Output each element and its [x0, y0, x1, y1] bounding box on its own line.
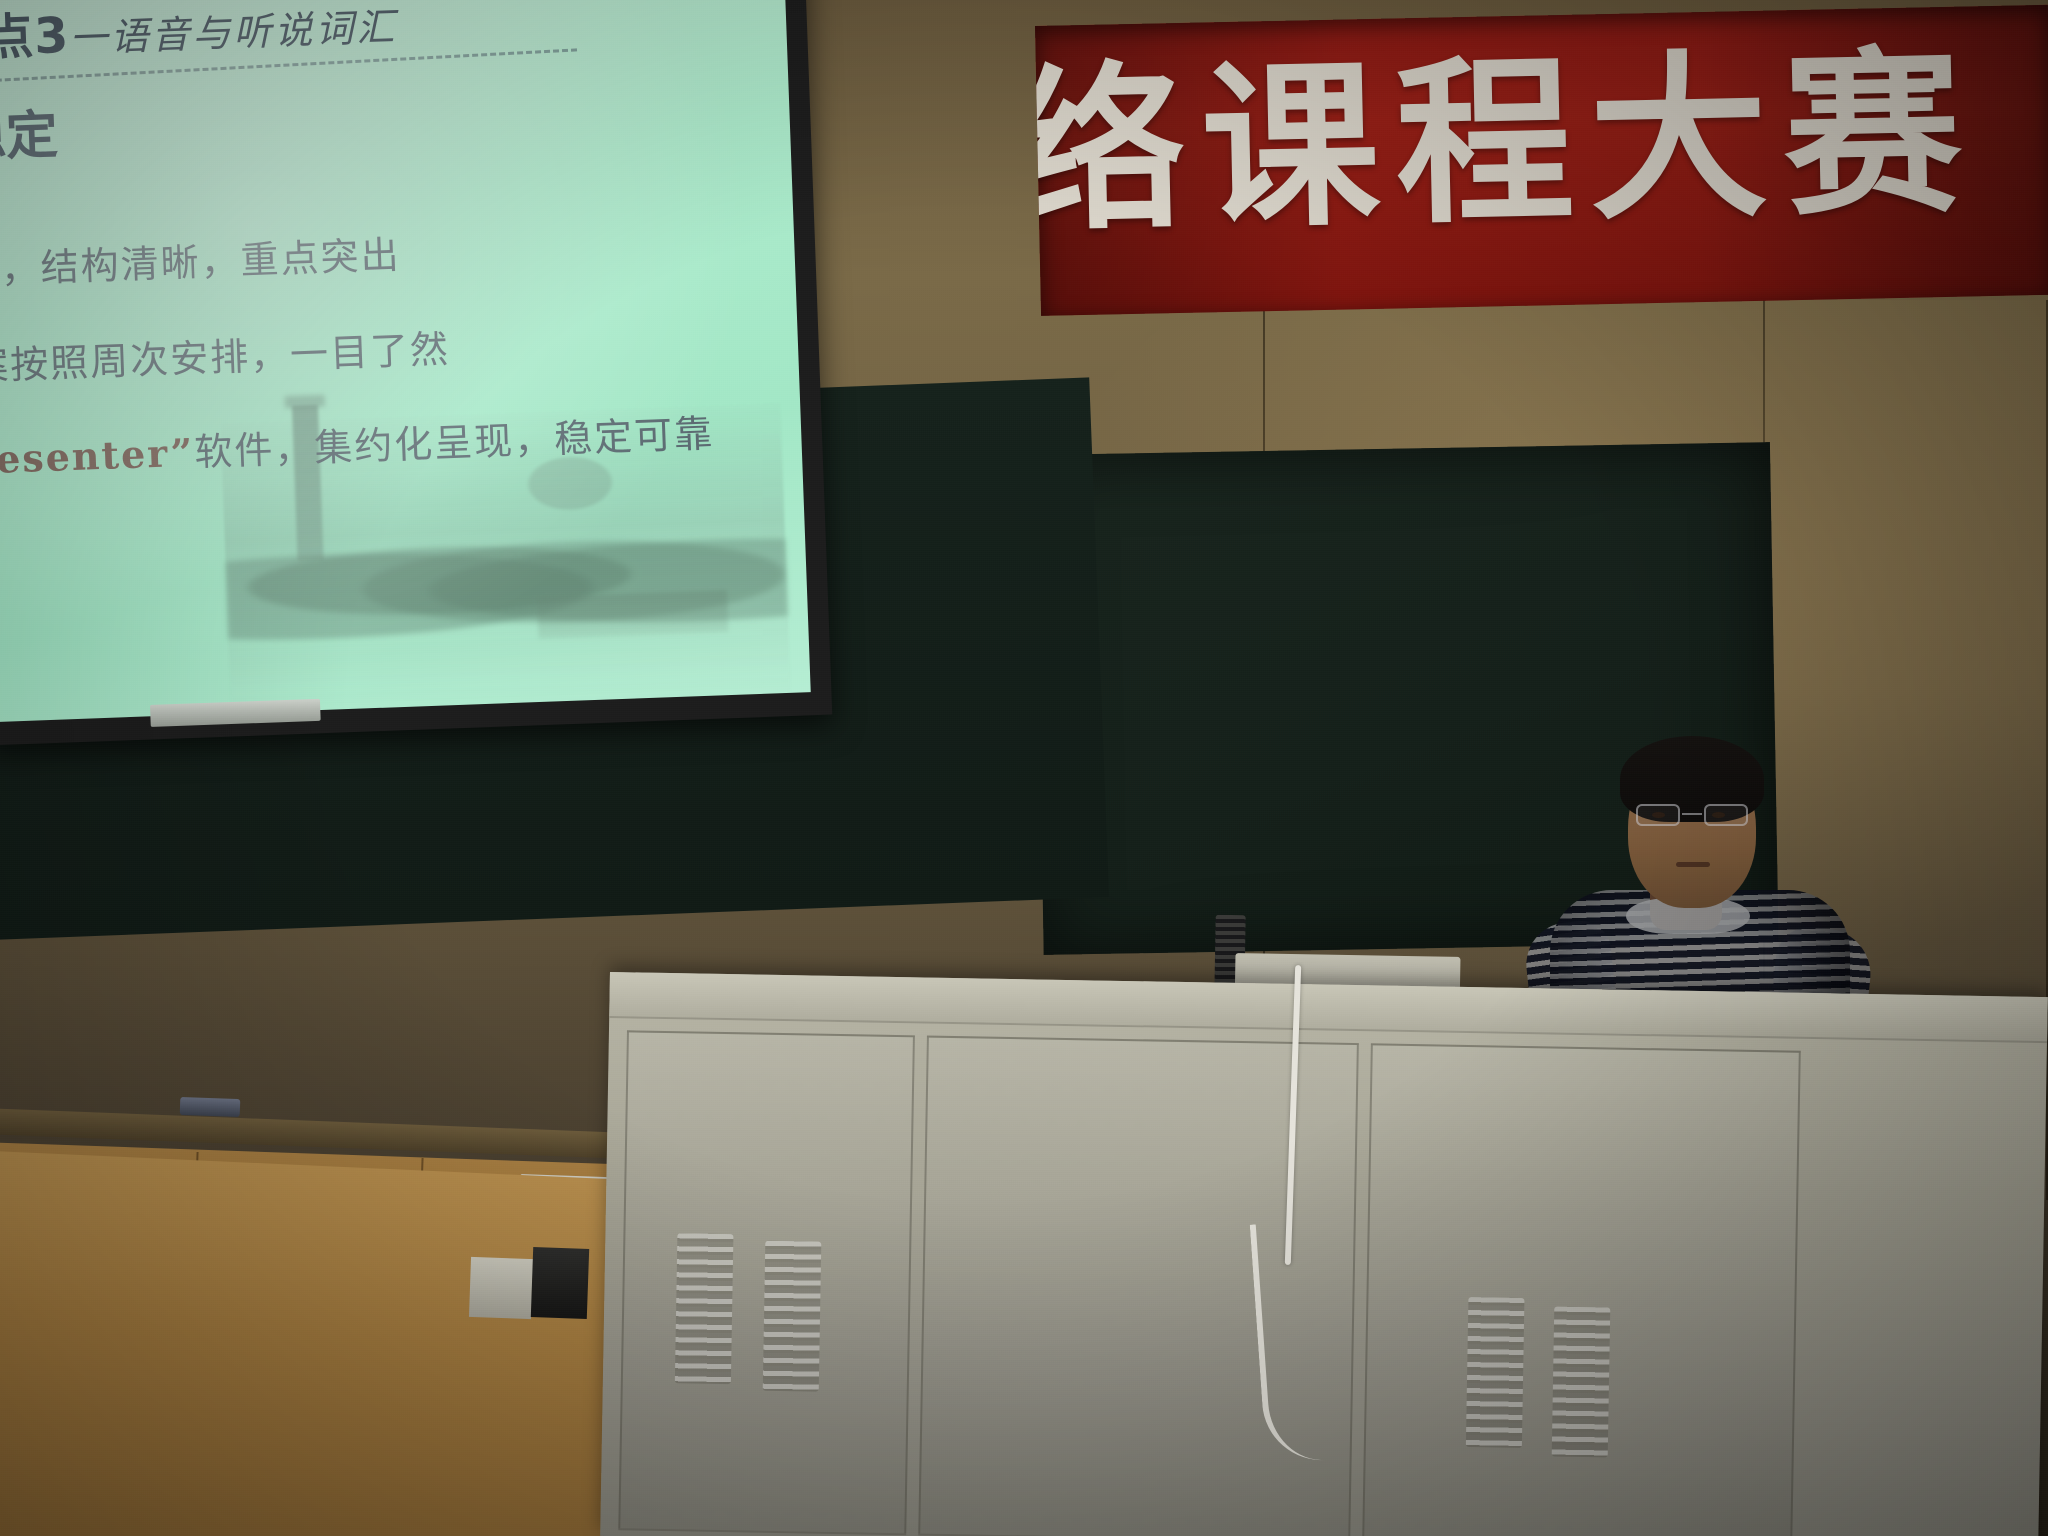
podium-louver-3 — [1466, 1297, 1525, 1448]
glasses-bridge — [1682, 813, 1702, 815]
presenter-right-eye — [1712, 812, 1725, 818]
slide-bullet-2: 教案按照周次安排，一目了然 — [0, 318, 451, 392]
slide-heading: 效稳定 — [0, 92, 59, 173]
desk-white-box — [469, 1257, 533, 1319]
projection-screen: 作亮点3一语音与听说词汇 1898 效稳定 简约，结构清晰，重点突出 教案按照周… — [0, 0, 811, 722]
banner-title-text: 络课程大赛 — [1035, 44, 1979, 242]
slide-title-sub: 一语音与听说词汇 — [69, 5, 398, 61]
lecture-hall-photo: 络课程大赛 作亮点3一语音与听说词汇 — [0, 0, 2048, 1536]
podium-door-right[interactable] — [1362, 1043, 1801, 1536]
slide-bullet-3-quote: “presenter” — [0, 430, 195, 485]
slide-content: 作亮点3一语音与听说词汇 1898 效稳定 简约，结构清晰，重点突出 教案按照周… — [0, 0, 811, 722]
podium-louver-1 — [675, 1233, 734, 1384]
wooden-desk — [0, 1150, 619, 1536]
slide-bullet-1: 简约，结构清晰，重点突出 — [0, 224, 401, 297]
podium-louver-2 — [763, 1241, 822, 1392]
presenter-mouth — [1676, 862, 1710, 867]
chalkboard-eraser — [180, 1097, 241, 1117]
desk-dark-box — [531, 1247, 589, 1319]
presenter-left-eye — [1652, 812, 1665, 818]
podium-louver-4 — [1552, 1307, 1611, 1458]
slide-title-main: 作亮点3 — [0, 7, 70, 71]
podium-door-left[interactable] — [618, 1030, 915, 1535]
slide-photo-bridge — [537, 590, 728, 639]
glasses-right-lens — [1704, 804, 1748, 826]
red-competition-banner: 络课程大赛 — [1035, 5, 2048, 316]
